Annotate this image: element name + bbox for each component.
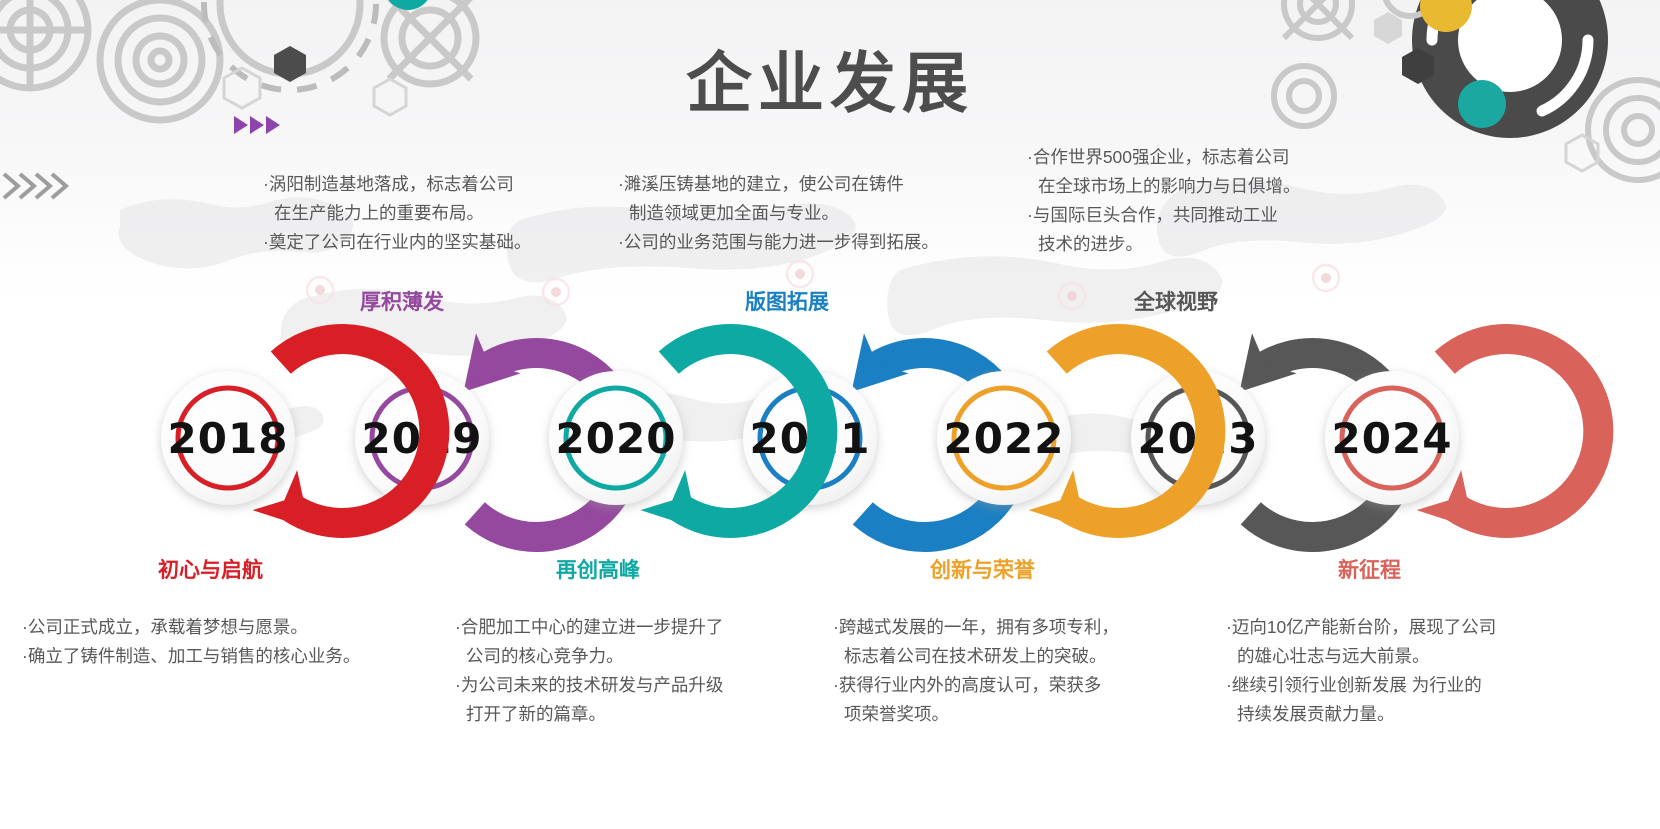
detail-block-2021: ·濉溪压铸基地的建立，使公司在铸件制造领域更加全面与专业。·公司的业务范围与能力… [618,170,939,257]
detail-line: 在生产能力上的重要布局。 [263,199,531,228]
page-title: 企业发展 [0,30,1660,126]
detail-line: ·迈向10亿产能新台阶，展现了公司 [1226,613,1496,642]
detail-line: ·获得行业内外的高度认可，荣获多 [833,671,1119,700]
timeline-node-2020[interactable]: 2020 [496,318,736,558]
detail-line: 持续发展贡献力量。 [1226,700,1496,729]
detail-line: ·确立了铸件制造、加工与销售的核心业务。 [22,642,360,671]
detail-line: 项荣誉奖项。 [833,700,1119,729]
timeline-node-2022[interactable]: 2022 [884,318,1124,558]
detail-block-2019: ·涡阳制造基地落成，标志着公司在生产能力上的重要布局。·奠定了公司在行业内的坚实… [263,170,531,257]
year-label: 2024 [1272,318,1512,558]
timeline-track: 2018201920202021202220232024 [0,318,1660,578]
detail-block-2020: ·合肥加工中心的建立进一步提升了公司的核心竞争力。·为公司未来的技术研发与产品升… [455,613,723,729]
detail-line: 公司的核心竞争力。 [455,642,723,671]
detail-line: ·与国际巨头合作，共同推动工业 [1027,201,1301,230]
year-label: 2022 [884,318,1124,558]
slide-canvas: 企业发展 ·涡阳制造基地落成，标志着公司在生产能力上的重要布局。·奠定了公司在行… [0,0,1660,829]
detail-line: 制造领域更加全面与专业。 [618,199,939,228]
detail-line: ·濉溪压铸基地的建立，使公司在铸件 [618,170,939,199]
detail-block-2022: ·跨越式发展的一年，拥有多项专利，标志着公司在技术研发上的突破。·获得行业内外的… [833,613,1119,729]
detail-line: ·合作世界500强企业，标志着公司 [1027,143,1301,172]
timeline-node-2024[interactable]: 2024 [1272,318,1512,558]
detail-line: ·继续引领行业创新发展 为行业的 [1226,671,1496,700]
detail-line: ·涡阳制造基地落成，标志着公司 [263,170,531,199]
year-label: 2020 [496,318,736,558]
detail-line: ·奠定了公司在行业内的坚实基础。 [263,228,531,257]
detail-line: 技术的进步。 [1027,230,1301,259]
detail-line: 打开了新的篇章。 [455,700,723,729]
stage-label-2019: 厚积薄发 [360,286,444,316]
year-label: 2018 [108,318,348,558]
detail-line: ·合肥加工中心的建立进一步提升了 [455,613,723,642]
detail-line: ·为公司未来的技术研发与产品升级 [455,671,723,700]
detail-block-2024: ·迈向10亿产能新台阶，展现了公司的雄心壮志与远大前景。·继续引领行业创新发展 … [1226,613,1496,729]
stage-label-2021: 版图拓展 [745,286,829,316]
detail-line: ·跨越式发展的一年，拥有多项专利， [833,613,1119,642]
detail-line: 的雄心壮志与远大前景。 [1226,642,1496,671]
stage-label-2023: 全球视野 [1134,286,1218,316]
detail-line: 在全球市场上的影响力与日俱增。 [1027,172,1301,201]
timeline-node-2018[interactable]: 2018 [108,318,348,558]
chevron-marks-gray [0,168,90,208]
detail-line: 标志着公司在技术研发上的突破。 [833,642,1119,671]
detail-line: ·公司的业务范围与能力进一步得到拓展。 [618,228,939,257]
detail-block-2023: ·合作世界500强企业，标志着公司在全球市场上的影响力与日俱增。·与国际巨头合作… [1027,143,1301,259]
detail-line: ·公司正式成立，承载着梦想与愿景。 [22,613,360,642]
detail-block-2018: ·公司正式成立，承载着梦想与愿景。·确立了铸件制造、加工与销售的核心业务。 [22,613,360,671]
